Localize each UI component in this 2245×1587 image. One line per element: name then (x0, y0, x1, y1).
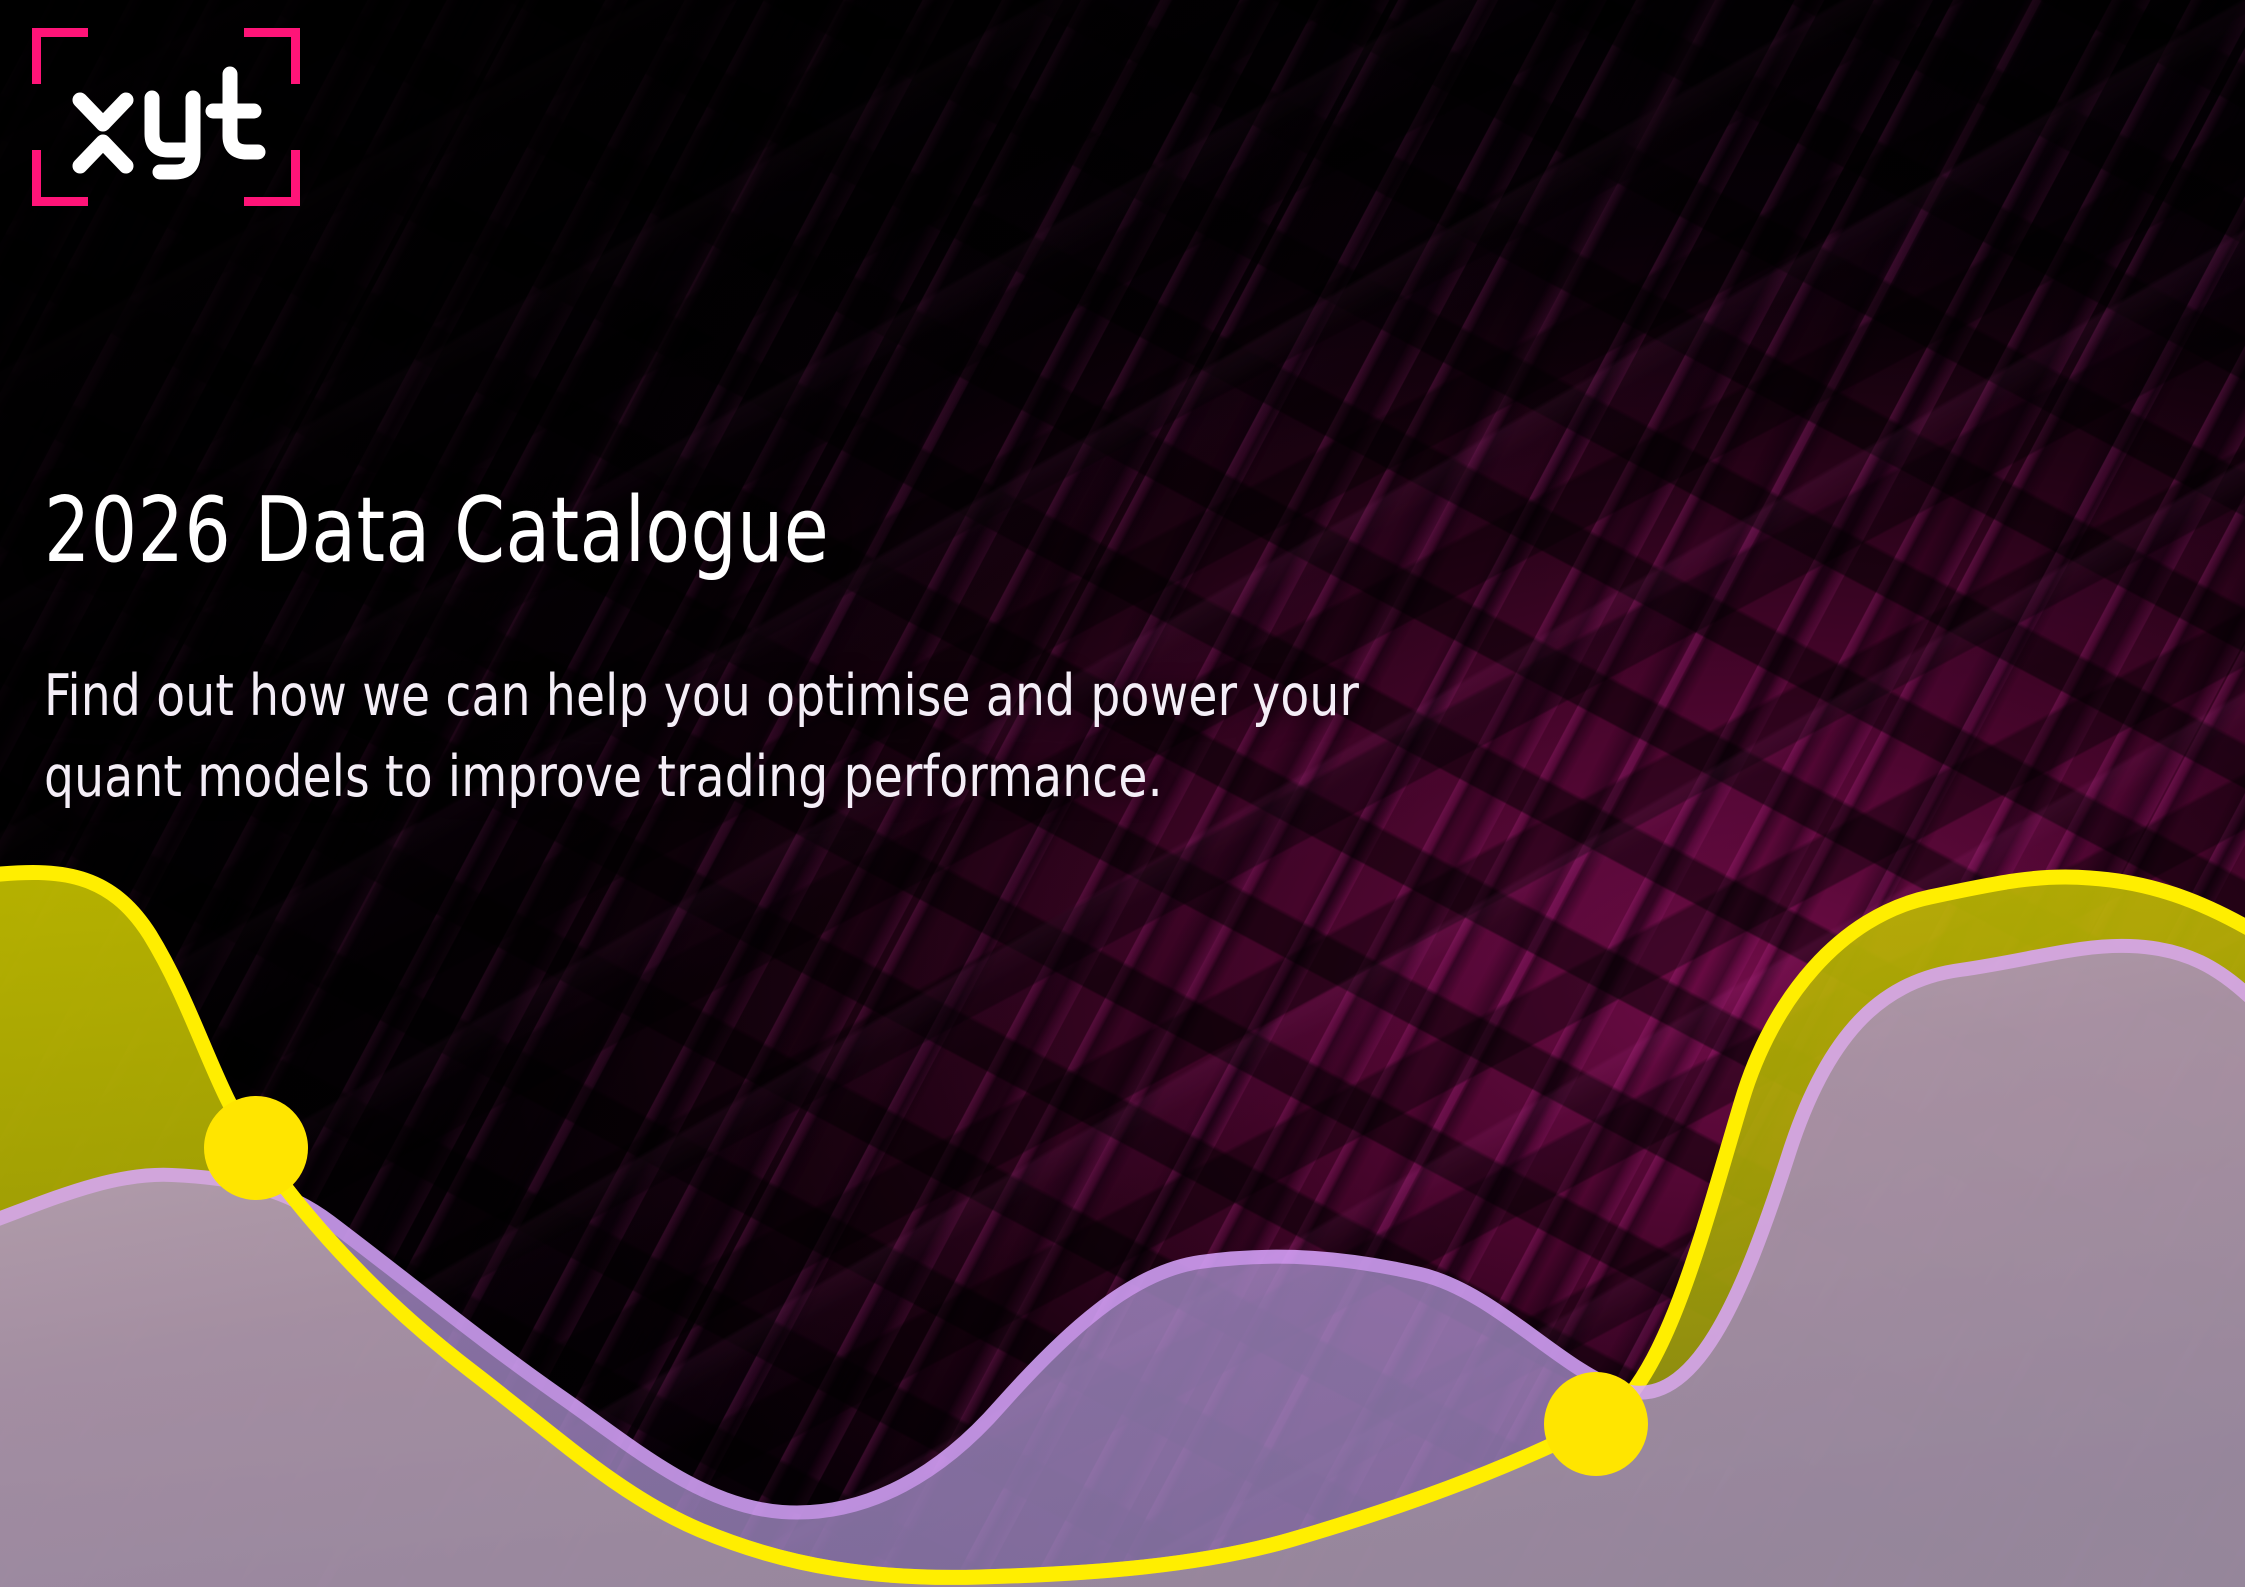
purple-wave-fill (0, 946, 2245, 1587)
wave-marker-right[interactable] (1544, 1372, 1648, 1476)
data-catalogue-cover: 2026 Data Catalogue Find out how we can … (0, 0, 2245, 1587)
wave-marker-left[interactable] (204, 1096, 308, 1200)
purple-wave-series (0, 946, 2245, 1587)
wave-chart-graphic (0, 0, 2245, 1587)
